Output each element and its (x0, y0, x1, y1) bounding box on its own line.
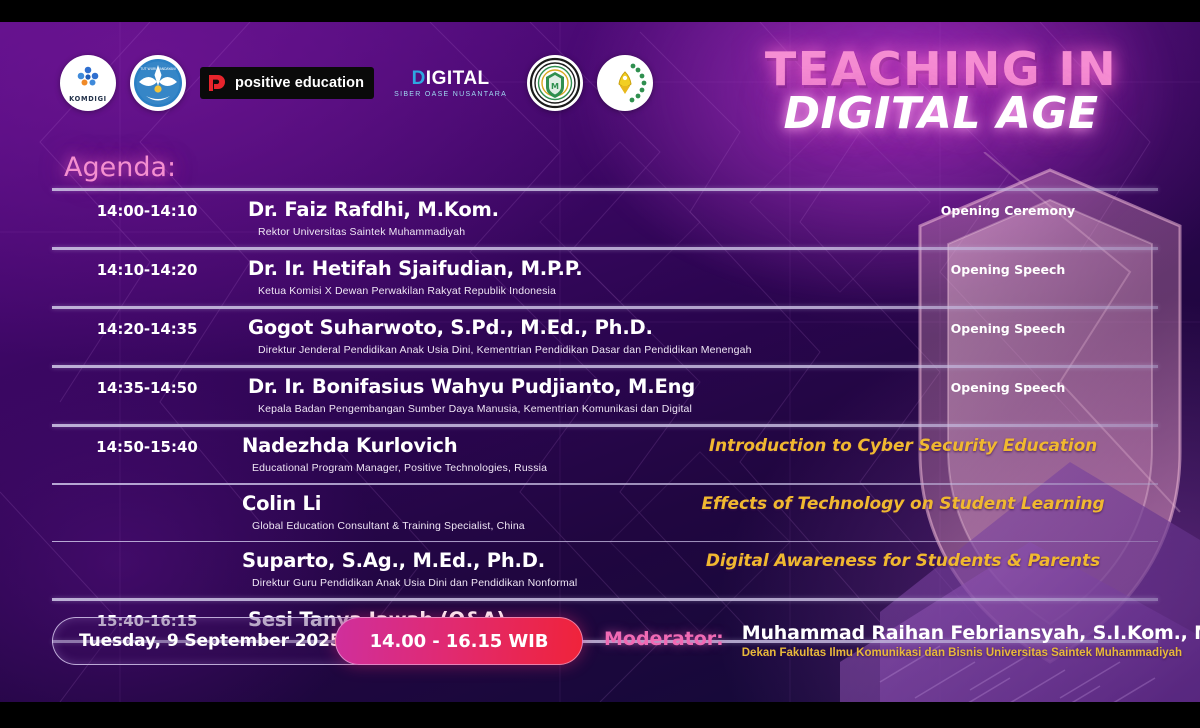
moderator-name: Muhammad Raihan Febriansyah, S.I.Kom., M… (742, 622, 1200, 644)
moderator-group: Moderator: Muhammad Raihan Febriansyah, … (604, 622, 1200, 659)
session-topic-title: Introduction to Cyber Security Education (648, 427, 1158, 456)
row-spacer (242, 589, 1158, 598)
table-row: 14:10-14:20 Dr. Ir. Hetifah Sjaifudian, … (52, 250, 1158, 297)
row-speaker-name: Gogot Suharwoto, S.Pd., M.Ed., Ph.D. (248, 309, 858, 339)
row-speaker-cell: Dr. Ir. Bonifasius Wahyu Pudjianto, M.En… (242, 368, 858, 415)
event-date-pill: Tuesday, 9 September 2025 (52, 617, 377, 665)
row-time: 14:10-14:20 (52, 250, 242, 279)
session-speaker-name: Nadezhda Kurlovich (242, 427, 648, 457)
row-speaker-cell: Gogot Suharwoto, S.Pd., M.Ed., Ph.D. Dir… (242, 309, 858, 356)
svg-text:TUT WURI HANDAYANI: TUT WURI HANDAYANI (139, 67, 175, 71)
row-category: Opening Ceremony (858, 191, 1158, 218)
session-speaker-row: Suparto, S.Ag., M.Ed., Ph.D. Direktur Gu… (242, 542, 1158, 589)
row-speaker-affiliation: Kepala Badan Pengembangan Sumber Daya Ma… (248, 398, 858, 415)
row-time: 14:20-14:35 (52, 309, 242, 338)
table-row: 14:20-14:35 Gogot Suharwoto, S.Pd., M.Ed… (52, 309, 1158, 356)
partner-logos: KOMDIGI TUT WURI HANDAYANI (60, 50, 653, 116)
row-speaker-cell: Dr. Ir. Hetifah Sjaifudian, M.P.P. Ketua… (242, 250, 858, 297)
row-spacer (52, 238, 1158, 247)
row-category: Opening Speech (858, 309, 1158, 336)
row-speaker-affiliation: Ketua Komisi X Dewan Perwakilan Rakyat R… (248, 280, 858, 297)
positive-education-label: positive education (235, 75, 364, 91)
letterbox-top (0, 0, 1200, 22)
row-speaker-name: Dr. Ir. Bonifasius Wahyu Pudjianto, M.En… (248, 368, 858, 398)
session-block-row: 14:50-15:40 Nadezhda Kurlovich Education… (52, 427, 1158, 598)
event-datetime-group: Tuesday, 9 September 2025 14.00 - 16.15 … (52, 617, 583, 665)
cyber-shield-emblem-logo: M (527, 55, 583, 111)
session-speaker-cell: Nadezhda Kurlovich Educational Program M… (242, 427, 648, 474)
row-speaker-name: Dr. Faiz Rafdhi, M.Kom. (248, 191, 858, 221)
moderator-details: Muhammad Raihan Febriansyah, S.I.Kom., M… (742, 622, 1200, 659)
row-spacer (242, 474, 1158, 483)
digital-logo-label: DIGITAL (412, 69, 490, 88)
session-block-body: Nadezhda Kurlovich Educational Program M… (242, 427, 1158, 598)
session-speaker-affiliation: Global Education Consultant & Training S… (242, 515, 648, 532)
row-time: 14:35-14:50 (52, 368, 242, 397)
positive-education-logo: positive education (200, 67, 374, 99)
session-topic-title: Digital Awareness for Students & Parents (648, 542, 1158, 571)
row-speaker-cell: Dr. Faiz Rafdhi, M.Kom. Rektor Universit… (242, 191, 858, 238)
moderator-affiliation: Dekan Fakultas Ilmu Komunikasi dan Bisni… (742, 647, 1200, 659)
svg-text:KOMDIGI: KOMDIGI (69, 95, 107, 103)
headline-line-1: TEACHING IN (716, 46, 1166, 93)
positive-education-mark (206, 72, 228, 94)
svg-text:M: M (551, 82, 559, 91)
session-speaker-name: Suparto, S.Ag., M.Ed., Ph.D. (242, 542, 648, 572)
poster-body: KOMDIGI TUT WURI HANDAYANI (0, 22, 1200, 702)
session-speaker-cell: Suparto, S.Ag., M.Ed., Ph.D. Direktur Gu… (242, 542, 648, 589)
poster-canvas: KOMDIGI TUT WURI HANDAYANI (0, 0, 1200, 728)
komdigi-logo: KOMDIGI (60, 55, 116, 111)
session-speaker-cell: Colin Li Global Education Consultant & T… (242, 485, 648, 532)
row-spacer (52, 297, 1158, 306)
row-spacer (52, 356, 1158, 365)
row-spacer (242, 532, 1158, 541)
row-speaker-affiliation: Direktur Jenderal Pendidikan Anak Usia D… (248, 339, 858, 356)
row-spacer (52, 415, 1158, 424)
digital-siber-oase-nusantara-logo: DIGITAL SIBER OASE NUSANTARA (388, 69, 513, 98)
row-time: 14:00-14:10 (52, 191, 242, 220)
session-speaker-affiliation: Direktur Guru Pendidikan Anak Usia Dini … (242, 572, 648, 589)
session-topic-title: Effects of Technology on Student Learnin… (648, 485, 1158, 514)
headline-line-2: DIGITAL AGE (716, 91, 1166, 137)
row-speaker-name: Dr. Ir. Hetifah Sjaifudian, M.P.P. (248, 250, 858, 280)
letterbox-bottom (0, 702, 1200, 728)
session-block-time: 14:50-15:40 (52, 427, 242, 456)
garuda-emblem-logo (597, 55, 653, 111)
session-speaker-row: Colin Li Global Education Consultant & T… (242, 485, 1158, 532)
agenda-table: 14:00-14:10 Dr. Faiz Rafdhi, M.Kom. Rekt… (52, 188, 1158, 643)
session-speaker-affiliation: Educational Program Manager, Positive Te… (242, 457, 648, 474)
row-speaker-affiliation: Rektor Universitas Saintek Muhammadiyah (248, 221, 858, 238)
poster-headline: TEACHING IN DIGITAL AGE (716, 46, 1166, 137)
agenda-label: Agenda: (64, 152, 176, 183)
kemendikbud-tutwurihandayani-logo: TUT WURI HANDAYANI (130, 55, 186, 111)
row-category: Opening Speech (858, 250, 1158, 277)
row-category (858, 601, 1158, 613)
table-row: 14:00-14:10 Dr. Faiz Rafdhi, M.Kom. Rekt… (52, 191, 1158, 238)
event-time-pill: 14.00 - 16.15 WIB (335, 617, 584, 665)
moderator-label: Moderator: (604, 622, 724, 650)
session-speaker-row: Nadezhda Kurlovich Educational Program M… (242, 427, 1158, 474)
row-category: Opening Speech (858, 368, 1158, 395)
table-row: 14:35-14:50 Dr. Ir. Bonifasius Wahyu Pud… (52, 368, 1158, 415)
session-speaker-name: Colin Li (242, 485, 648, 515)
digital-logo-sublabel: SIBER OASE NUSANTARA (394, 91, 507, 98)
